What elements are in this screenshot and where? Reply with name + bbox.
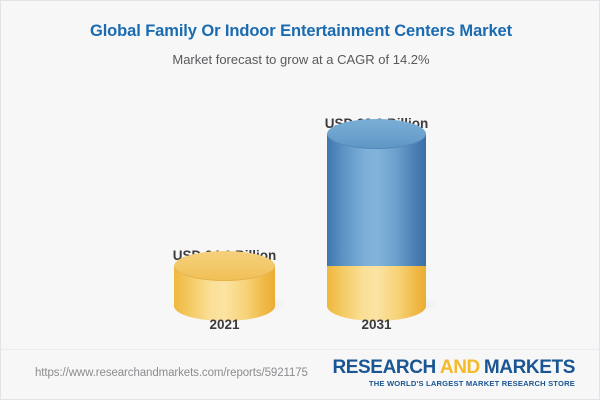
cylinder-bar-2021[interactable] xyxy=(174,251,275,306)
cylinder-top-cap xyxy=(327,119,426,149)
chart-plot-area: USD 24.6 Billion 2021 USD 92.9 Billion xyxy=(1,85,600,349)
cylinder-segment-blue xyxy=(327,134,426,266)
bar-group-2021: USD 24.6 Billion 2021 xyxy=(174,85,275,349)
bar-group-2031: USD 92.9 Billion 2031 xyxy=(327,85,426,349)
chart-infographic: Global Family Or Indoor Entertainment Ce… xyxy=(0,0,600,400)
footer: https://www.researchandmarkets.com/repor… xyxy=(1,350,600,399)
cylinder-body xyxy=(327,134,426,321)
cylinder-top-cap xyxy=(174,251,275,281)
brand-word-and: AND xyxy=(440,357,480,378)
cylinder-bar-2031[interactable] xyxy=(327,119,426,306)
x-axis-label-2031: 2031 xyxy=(361,317,391,332)
chart-subtitle: Market forecast to grow at a CAGR of 14.… xyxy=(1,52,600,68)
report-url-link[interactable]: https://www.researchandmarkets.com/repor… xyxy=(35,367,308,379)
brand-wordmark: RESEARCHANDMARKETS xyxy=(332,358,575,378)
brand-logo[interactable]: RESEARCHANDMARKETS THE WORLD'S LARGEST M… xyxy=(332,358,575,388)
brand-word-research: RESEARCH xyxy=(332,357,435,378)
chart-header: Global Family Or Indoor Entertainment Ce… xyxy=(1,1,600,67)
cylinder-segment-yellow xyxy=(327,266,426,321)
page-title: Global Family Or Indoor Entertainment Ce… xyxy=(1,22,600,42)
brand-word-markets: MARKETS xyxy=(484,357,575,378)
brand-tagline: THE WORLD'S LARGEST MARKET RESEARCH STOR… xyxy=(332,379,575,388)
x-axis-label-2021: 2021 xyxy=(209,317,239,332)
